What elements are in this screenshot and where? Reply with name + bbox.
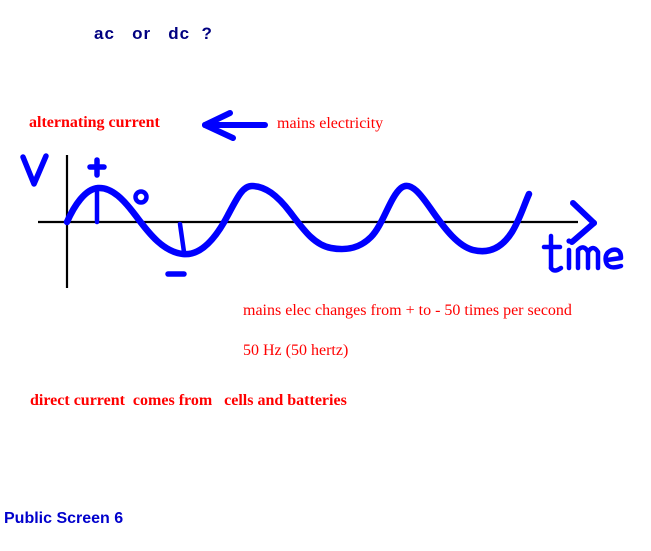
ac-sine-wave <box>67 186 529 254</box>
voltage-axis-label-v <box>23 156 46 184</box>
footer-public-screen: Public Screen 6 <box>4 510 123 528</box>
page-title: ac or dc ? <box>94 24 213 44</box>
label-alternating-current: alternating current <box>29 114 160 132</box>
slide-canvas: ac or dc ? alternating current mains ele… <box>0 0 651 551</box>
plus-marker-icon <box>90 160 104 175</box>
time-axis-arrow-icon <box>572 203 594 242</box>
pointer-arrow-left-icon <box>205 113 265 138</box>
note-mains-frequency-line2: 50 Hz (50 hertz) <box>243 342 348 359</box>
time-axis-label <box>544 236 621 271</box>
zero-marker-icon <box>136 192 147 203</box>
label-mains-electricity: mains electricity <box>277 115 383 133</box>
trough-amplitude-tick <box>180 224 184 252</box>
note-mains-frequency-line1: mains elec changes from + to - 50 times … <box>243 302 572 319</box>
note-mains-frequency: mains elec changes from + to - 50 times … <box>227 281 572 381</box>
label-direct-current: direct current comes from cells and batt… <box>30 392 347 410</box>
diagram-drawing-layer <box>0 0 651 551</box>
